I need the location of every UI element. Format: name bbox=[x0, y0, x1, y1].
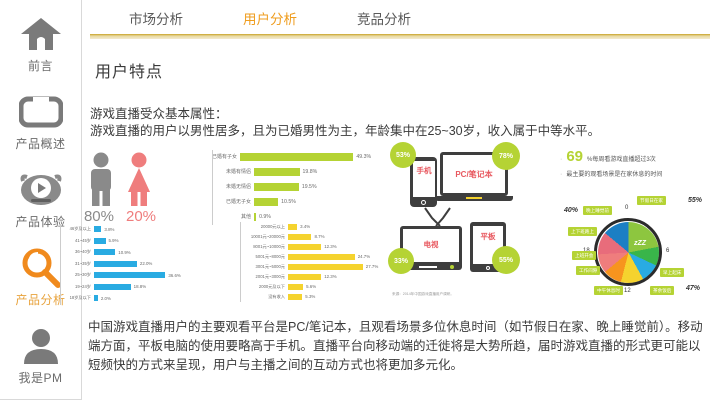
chart-bar-track: 12.3% bbox=[288, 274, 390, 280]
tag-morning-wakeup: 早上起床 bbox=[660, 268, 684, 277]
chart-bar-value: 18.8% bbox=[131, 284, 146, 289]
stat-note-2: 最主要的观看场景是在家休息的时间 bbox=[566, 169, 662, 178]
chart-bar-fill bbox=[94, 261, 137, 267]
female-percent: 20% bbox=[126, 208, 156, 225]
chart-bar-fill bbox=[288, 264, 363, 270]
lead-line-1: 游戏直播受众基本属性： bbox=[90, 106, 705, 123]
chart-bar-label: 2000元及以下 bbox=[240, 284, 288, 290]
annotation-47: 47% bbox=[686, 285, 700, 292]
chart-bar-row: 36~40岁10.9% bbox=[60, 247, 210, 257]
annotation-55: 55% bbox=[688, 197, 702, 204]
chart-bar-track: 10.9% bbox=[94, 249, 210, 255]
chart-bar-track: 8.7% bbox=[288, 234, 390, 240]
tab-label: 用户分析 bbox=[243, 8, 297, 28]
chart-bar-value: 10.9% bbox=[115, 250, 130, 255]
tag-work-gap: 工作间隙 bbox=[576, 266, 600, 275]
chart-bar-label: 46岁及以上 bbox=[60, 226, 94, 232]
chart-bar-track: 27.7% bbox=[288, 264, 390, 270]
clock-number-6: 6 bbox=[666, 248, 669, 254]
viewing-scene-clock-chart: zZZ bbox=[594, 218, 662, 286]
zzz-icon: zZZ bbox=[634, 240, 646, 247]
chart-bar-row: 20000元以上3.4% bbox=[240, 222, 390, 231]
chart-bar-track: 2.0% bbox=[94, 295, 210, 301]
age-distribution-chart: 46岁及以上3.8%41~45岁5.9%36~40岁10.9%31~35岁22.… bbox=[60, 224, 210, 305]
male-percent: 80% bbox=[84, 208, 114, 225]
chart-bar-track: 5.9% bbox=[94, 238, 210, 244]
female-figure-icon bbox=[124, 152, 154, 206]
chart-bar-track: 5.6% bbox=[288, 284, 390, 290]
sidebar-item-preface[interactable]: 前言 bbox=[0, 4, 82, 82]
chart-bar-row: 已婚有子女49.3% bbox=[212, 150, 370, 163]
chart-bar-row: 未婚无情侣19.5% bbox=[212, 180, 370, 193]
chart-bar-fill bbox=[254, 198, 278, 206]
tab-competitor-analysis[interactable]: 竞品分析 bbox=[326, 6, 442, 36]
chart-bar-fill bbox=[94, 272, 165, 278]
chart-bar-label: 19~24岁 bbox=[60, 284, 94, 290]
chart-bar-track: 18.8% bbox=[94, 284, 210, 290]
chart-bar-fill bbox=[254, 168, 300, 176]
tab-label: 市场分析 bbox=[129, 8, 183, 28]
gender-figures bbox=[72, 152, 168, 206]
tag-noon-break: 中午休息时 bbox=[594, 286, 623, 295]
marital-status-chart: 已婚有子女49.3%未婚有情侣19.8%未婚无情侣19.5%已婚无子女10.5%… bbox=[212, 150, 370, 225]
chart-bar-value: 22.0% bbox=[137, 261, 152, 266]
chart-bar-track: 19.8% bbox=[254, 168, 370, 176]
chart-bar-label: 41~45岁 bbox=[60, 238, 94, 244]
summary-paragraph: 中国游戏直播用户的主要观看平台是PC/笔记本，且观看场景多位休息时间（如节假日在… bbox=[88, 318, 706, 375]
male-figure-icon bbox=[86, 152, 116, 206]
chart-bar-row: 5001元~8000元24.7% bbox=[240, 252, 390, 261]
page-title: 用户特点 bbox=[95, 58, 163, 82]
chart-axis bbox=[240, 222, 241, 302]
chart-bar-value: 3.8% bbox=[101, 227, 114, 232]
chart-bar-track: 19.5% bbox=[254, 183, 370, 191]
device-source-note: 来源：2014年中国游戏直播用户调研。 bbox=[392, 292, 454, 297]
chart-bar-value: 5.6% bbox=[303, 284, 316, 289]
chart-bar-label: 5001元~8000元 bbox=[240, 254, 288, 260]
chart-bar-row: 未婚有情侣19.8% bbox=[212, 165, 370, 178]
chart-bar-label: 其他 bbox=[212, 213, 254, 220]
lead-line-2: 游戏直播的用户以男性居多，且为已婚男性为主，年龄集中在25~30岁，收入属于中等… bbox=[90, 123, 705, 140]
chart-bar-value: 49.3% bbox=[353, 154, 371, 160]
chart-bar-row: 19~24岁18.8% bbox=[60, 282, 210, 292]
chart-bar-label: 3001元~5000元 bbox=[240, 264, 288, 270]
income-distribution-chart: 20000元以上3.4%10001元~20000元8.7%8001元~10000… bbox=[240, 222, 390, 302]
chart-bar-row: 3001元~5000元27.7% bbox=[240, 262, 390, 271]
sidebar-label: 前言 bbox=[28, 57, 53, 74]
chart-bar-value: 3.4% bbox=[297, 224, 310, 229]
chart-bar-label: 未婚无情侣 bbox=[212, 183, 254, 190]
chart-bar-track: 3.4% bbox=[288, 224, 390, 230]
chart-bar-label: 31~35岁 bbox=[60, 261, 94, 267]
screen-icon bbox=[18, 91, 64, 133]
stat-number: 69 bbox=[566, 148, 583, 165]
device-illustration: 手机 53% PC/笔记本 78% 电视 33% 平板 55% bbox=[388, 140, 538, 300]
tag-after-meal: 茶余饭后 bbox=[650, 286, 674, 295]
stat-line-1: · 69 %每周看游戏直播超过3次 bbox=[560, 148, 710, 165]
sidebar-label: 我是PM bbox=[18, 369, 62, 386]
tag-before-sleep: 晚上睡觉前 bbox=[583, 206, 612, 215]
chart-bar-track: 36.6% bbox=[94, 272, 210, 278]
chart-bar-fill bbox=[288, 244, 321, 250]
tag-commute: 上下班路上 bbox=[568, 227, 597, 236]
chart-bar-value: 12.3% bbox=[321, 274, 336, 279]
person-icon bbox=[18, 325, 64, 367]
sidebar-item-i-am-pm[interactable]: 我是PM bbox=[0, 316, 82, 394]
chart-bar-label: 20000元以上 bbox=[240, 224, 288, 230]
chart-bar-value: 8.7% bbox=[311, 234, 324, 239]
chart-bar-row: 46岁及以上3.8% bbox=[60, 224, 210, 234]
play-badge-icon bbox=[18, 169, 64, 211]
chart-bar-fill bbox=[288, 284, 303, 290]
chart-bar-row: 2000元及以下5.6% bbox=[240, 282, 390, 291]
chart-bar-label: 没有收入 bbox=[240, 294, 288, 300]
chart-bar-fill bbox=[94, 226, 101, 232]
chart-axis bbox=[60, 224, 61, 305]
chart-bar-row: 10001元~20000元8.7% bbox=[240, 232, 390, 241]
chart-bar-row: 已婚无子女10.5% bbox=[212, 195, 370, 208]
clock-ring bbox=[594, 218, 662, 286]
chart-bar-row: 8001元~10000元12.3% bbox=[240, 242, 390, 251]
chart-bar-track: 3.8% bbox=[94, 226, 210, 232]
chart-bar-label: 2001元~3000元 bbox=[240, 274, 288, 280]
slide-page: 前言 产品概述 产品体验 bbox=[0, 0, 711, 400]
chart-bar-value: 19.5% bbox=[299, 184, 317, 190]
tab-underline bbox=[90, 34, 710, 39]
chart-bar-row: 18岁及以下2.0% bbox=[60, 293, 210, 303]
chart-bar-track: 49.3% bbox=[240, 153, 371, 161]
chart-bar-label: 已婚有子女 bbox=[212, 153, 240, 160]
chart-bar-track: 0.9% bbox=[254, 213, 370, 221]
chart-bar-label: 已婚无子女 bbox=[212, 198, 254, 205]
right-stats-block: · 69 %每周看游戏直播超过3次 · 最主要的观看场景是在家休息的时间 bbox=[560, 148, 710, 182]
sidebar-label: 产品体验 bbox=[15, 213, 65, 230]
chart-bar-label: 未婚有情侣 bbox=[212, 168, 254, 175]
chart-bar-row: 31~35岁22.0% bbox=[60, 259, 210, 269]
tab-market-analysis[interactable]: 市场分析 bbox=[98, 6, 214, 36]
chart-bar-fill bbox=[288, 274, 321, 280]
chart-bar-fill bbox=[288, 224, 297, 230]
bullet-dot-icon: · bbox=[560, 156, 562, 163]
chart-bar-fill bbox=[94, 249, 115, 255]
chart-bar-value: 0.9% bbox=[256, 214, 271, 220]
tag-holiday-home: 节假日在家 bbox=[637, 196, 666, 205]
clock-number-12: 12 bbox=[624, 288, 631, 294]
home-icon bbox=[18, 13, 64, 55]
chart-bar-fill bbox=[94, 238, 106, 244]
chart-bar-track: 5.3% bbox=[288, 294, 390, 300]
sidebar: 前言 产品概述 产品体验 bbox=[0, 0, 82, 400]
sidebar-label: 产品分析 bbox=[15, 291, 65, 308]
gender-block: 80% 20% bbox=[72, 152, 168, 225]
chart-bar-label: 25~30岁 bbox=[60, 272, 94, 278]
chart-bar-value: 19.8% bbox=[300, 169, 318, 175]
chart-bar-track: 22.0% bbox=[94, 261, 210, 267]
chart-bar-label: 10001元~20000元 bbox=[240, 234, 288, 240]
bullet-dot-icon: · bbox=[560, 171, 562, 178]
stat-suffix: %每周看游戏直播超过3次 bbox=[587, 154, 656, 163]
chart-bar-value: 5.9% bbox=[106, 238, 119, 243]
chart-bar-value: 27.7% bbox=[363, 264, 378, 269]
tag-office-meeting: 上班开会 bbox=[572, 251, 596, 260]
chart-bar-value: 5.3% bbox=[302, 294, 315, 299]
device-connector-lines bbox=[388, 140, 538, 300]
chart-bar-fill bbox=[254, 183, 299, 191]
sidebar-item-product-overview[interactable]: 产品概述 bbox=[0, 82, 82, 160]
sidebar-label: 产品概述 bbox=[15, 135, 65, 152]
chart-bar-row: 25~30岁36.6% bbox=[60, 270, 210, 280]
chart-bar-value: 24.7% bbox=[355, 254, 370, 259]
tab-label: 竞品分析 bbox=[357, 8, 411, 28]
chart-bar-label: 18岁及以下 bbox=[60, 295, 94, 301]
clock-number-0: 0 bbox=[625, 205, 628, 211]
chart-bar-fill bbox=[240, 153, 353, 161]
chart-bar-track: 24.7% bbox=[288, 254, 390, 260]
chart-bar-value: 12.3% bbox=[321, 244, 336, 249]
chart-bar-fill bbox=[288, 294, 302, 300]
chart-bar-fill bbox=[288, 234, 311, 240]
chart-bar-track: 12.3% bbox=[288, 244, 390, 250]
annotation-40: 40% bbox=[564, 207, 578, 214]
chart-axis bbox=[212, 150, 213, 225]
chart-bar-row: 41~45岁5.9% bbox=[60, 236, 210, 246]
chart-bar-row: 2001元~3000元12.3% bbox=[240, 272, 390, 281]
chart-bar-label: 8001元~10000元 bbox=[240, 244, 288, 250]
chart-bar-value: 36.6% bbox=[165, 273, 180, 278]
stat-line-2: · 最主要的观看场景是在家休息的时间 bbox=[560, 169, 710, 178]
chart-bar-value: 2.0% bbox=[98, 296, 111, 301]
gender-percents: 80% 20% bbox=[72, 208, 168, 225]
tab-user-analysis[interactable]: 用户分析 bbox=[212, 6, 328, 36]
chart-bar-value: 10.5% bbox=[278, 199, 296, 205]
chart-bar-label: 36~40岁 bbox=[60, 249, 94, 255]
lead-paragraph: 游戏直播受众基本属性： 游戏直播的用户以男性居多，且为已婚男性为主，年龄集中在2… bbox=[90, 106, 705, 140]
chart-bar-track: 10.5% bbox=[254, 198, 370, 206]
chart-bar-row: 没有收入5.3% bbox=[240, 292, 390, 301]
magnifier-icon bbox=[18, 247, 64, 289]
chart-bar-fill bbox=[288, 254, 355, 260]
chart-bar-fill bbox=[94, 284, 131, 290]
